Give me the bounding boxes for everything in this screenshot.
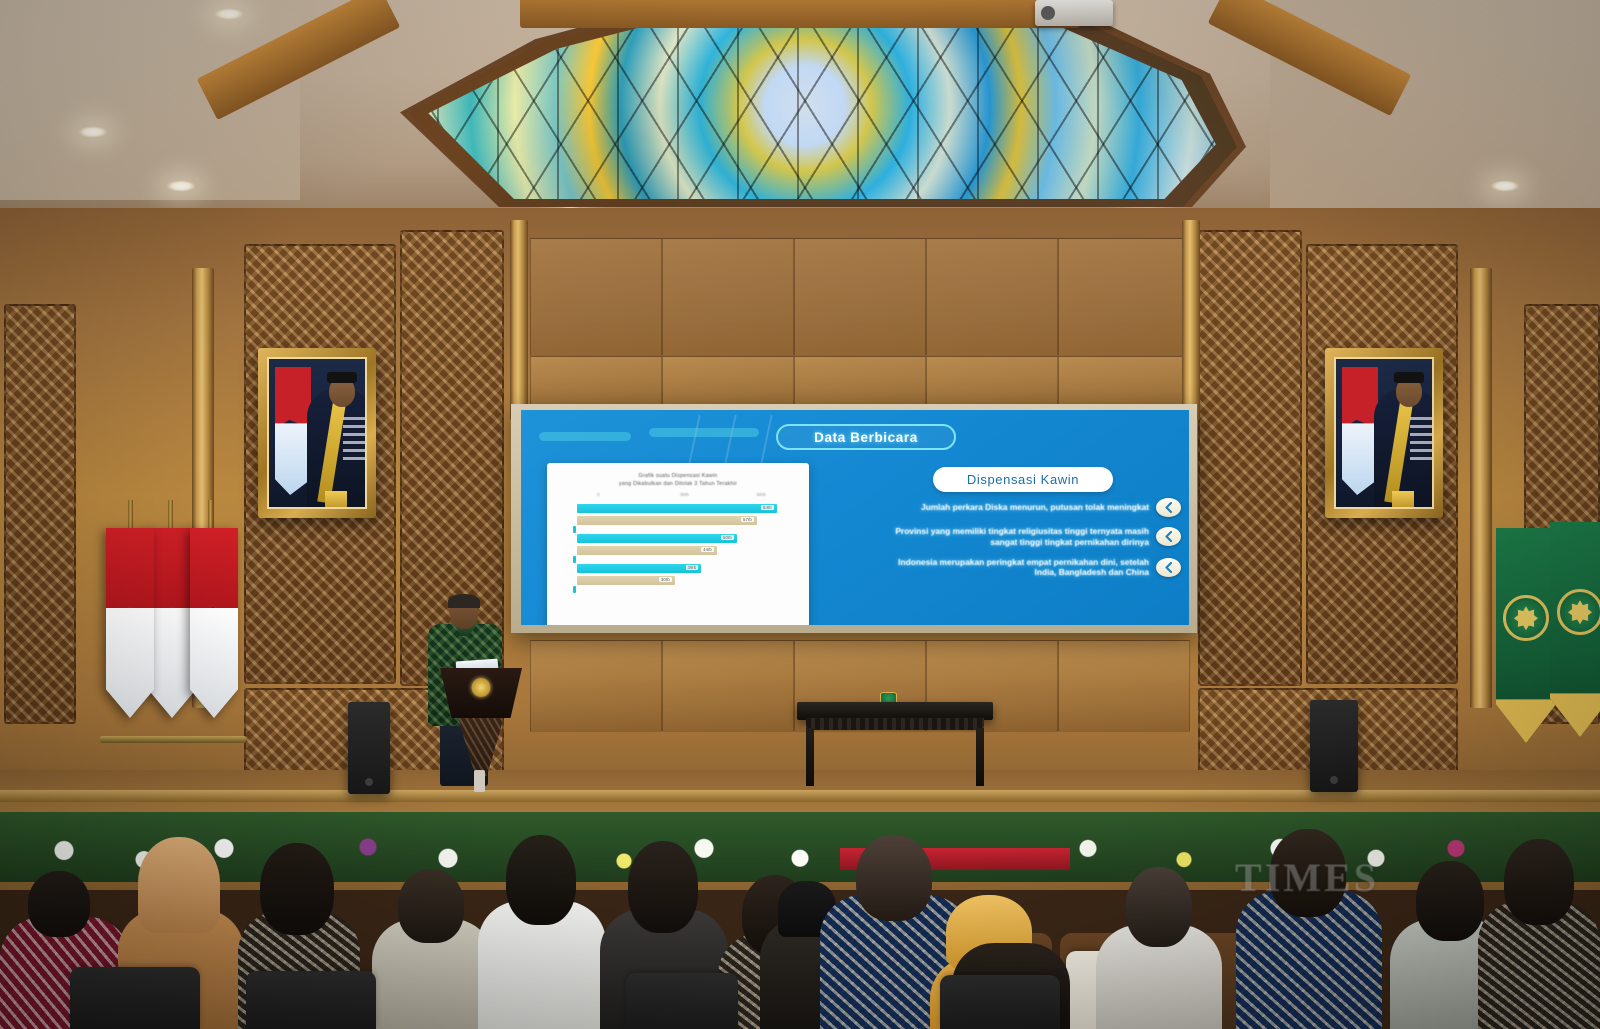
hijab-icon — [138, 837, 220, 933]
indonesia-flag — [190, 528, 238, 718]
portrait-canvas — [267, 357, 367, 509]
bar-group-2023: 39rb 30rb — [557, 564, 799, 585]
chevron-left-icon[interactable] — [1156, 558, 1181, 577]
portrait-tassel — [325, 491, 347, 509]
pillar-right — [1182, 220, 1200, 420]
loudspeaker-left — [348, 702, 390, 794]
category-tick — [573, 526, 576, 533]
chart-title-line2: yang Dikabulkan dan Ditolak 3 Tahun Tera… — [557, 480, 799, 488]
bar-dikabulkan: 64rb — [577, 504, 777, 513]
wall-panel — [926, 238, 1058, 356]
flag-white-band — [1342, 423, 1378, 495]
audience-head — [398, 869, 464, 943]
key-point-text: Indonesia merupakan peringkat empat pern… — [893, 557, 1149, 579]
flag-red-band — [148, 528, 196, 615]
wall-panel — [794, 238, 926, 356]
portrait-medals — [343, 417, 367, 461]
audience-head — [1270, 829, 1346, 917]
carved-panel-far-left — [4, 304, 76, 724]
key-point-text: Jumlah perkara Diska menurun, putusan to… — [893, 502, 1149, 513]
wall-panel — [530, 640, 662, 732]
flag-white-band — [275, 423, 311, 495]
audience-member — [1236, 813, 1382, 1029]
key-point-row: Provinsi yang memiliki tingkat religiusi… — [893, 526, 1181, 548]
carved-panel-right-inner — [1198, 230, 1302, 686]
indonesia-flag — [148, 528, 196, 718]
flag-red-band — [1342, 367, 1378, 428]
audience-head — [1504, 839, 1574, 925]
chart-x-axis: 0 30rb 60rb — [591, 490, 793, 499]
slide-key-points: Jumlah perkara Diska menurun, putusan to… — [893, 498, 1181, 587]
category-tick — [573, 586, 576, 593]
audience-head — [628, 841, 698, 933]
audience-head — [1416, 861, 1484, 941]
court-seal-icon — [1503, 595, 1549, 641]
slide-title-badge: Data Berbicara — [776, 424, 956, 450]
console-table-apron — [806, 718, 984, 730]
audience-head — [506, 835, 576, 925]
deco-bar — [649, 428, 759, 437]
podium — [440, 668, 522, 718]
presenter-hair — [448, 594, 480, 608]
audience-head — [260, 843, 334, 935]
audience-head — [28, 871, 90, 937]
bar-value-label: 57rb — [741, 517, 754, 522]
ceiling-projector — [1035, 0, 1113, 26]
bar-group-2021: 64rb 57rb — [557, 504, 799, 525]
indonesia-flag — [106, 528, 154, 718]
bar-ditolak: 30rb — [577, 576, 675, 585]
wall-panel — [1058, 238, 1190, 356]
institution-flag — [1496, 528, 1556, 743]
flag-white-band — [190, 608, 238, 718]
pillar-left — [510, 220, 528, 420]
slide-chart-card: Grafik suatu Dispensasi Kawin yang Dikab… — [547, 463, 809, 625]
bar-ditolak: 57rb — [577, 516, 757, 525]
stage-edge-trim — [0, 790, 1600, 802]
flag-white-band — [148, 608, 196, 718]
court-seal-icon — [1557, 589, 1600, 635]
key-point-row: Indonesia merupakan peringkat empat pern… — [893, 557, 1181, 579]
x-tick-0: 0 — [597, 492, 600, 497]
slide-subtitle-badge: Dispensasi Kawin — [933, 467, 1113, 492]
chevron-left-icon[interactable] — [1156, 527, 1181, 546]
bar-ditolak: 44rb — [577, 546, 717, 555]
slide-title-text: Data Berbicara — [814, 430, 918, 445]
audience-chair — [626, 973, 738, 1029]
loudspeaker-right — [1310, 700, 1358, 792]
key-point-text: Provinsi yang memiliki tingkat religiusi… — [893, 526, 1149, 548]
flag-stand-base — [100, 736, 246, 743]
audience-member — [478, 819, 606, 1029]
projection-screen[interactable]: Data Berbicara Dispensasi Kawin Grafik s… — [511, 404, 1197, 633]
peci-cap-icon — [1394, 372, 1424, 383]
peci-cap-icon — [327, 372, 357, 383]
audience-member — [1478, 823, 1600, 1029]
chart-title-line1: Grafik suatu Dispensasi Kawin — [557, 472, 799, 480]
podium-garuda-emblem-icon — [472, 678, 491, 697]
audience-member — [372, 854, 494, 1029]
downlight-icon — [166, 180, 196, 192]
institution-flag — [1550, 522, 1600, 737]
vice-president-portrait — [1325, 348, 1443, 518]
audience-chair — [246, 971, 376, 1029]
deco-bar — [539, 432, 631, 441]
console-table-leg — [806, 728, 814, 786]
bar-value-label: 64rb — [761, 505, 774, 510]
chevron-left-icon[interactable] — [1156, 498, 1181, 517]
category-tick — [573, 556, 576, 563]
bar-value-label: 50rb — [721, 535, 734, 540]
console-table-leg — [976, 728, 984, 786]
flag-red-band — [190, 528, 238, 615]
pillar-mid-right — [1470, 268, 1492, 708]
bar-value-label: 30rb — [659, 577, 672, 582]
bar-dikabulkan: 39rb — [577, 564, 701, 573]
downlight-icon — [1490, 180, 1520, 192]
portrait-canvas — [1334, 357, 1434, 509]
bar-group-2022: 50rb 44rb — [557, 534, 799, 555]
wall-panel — [662, 640, 794, 732]
x-tick-2: 60rb — [757, 492, 766, 497]
audience-head — [856, 835, 932, 921]
audience-member — [1096, 853, 1222, 1029]
x-tick-1: 30rb — [680, 492, 689, 497]
flag-white-band — [106, 608, 154, 718]
downlight-icon — [78, 126, 108, 138]
bar-value-label: 44rb — [701, 547, 714, 552]
portrait-medals — [1410, 417, 1434, 461]
portrait-tassel — [1392, 491, 1414, 509]
podium-stem — [474, 770, 485, 792]
wall-panel — [530, 238, 662, 356]
flag-backdrop — [1342, 367, 1378, 495]
flag-backdrop — [275, 367, 311, 495]
audience-chair — [940, 975, 1060, 1029]
bar-dikabulkan: 50rb — [577, 534, 737, 543]
presentation-slide[interactable]: Data Berbicara Dispensasi Kawin Grafik s… — [521, 410, 1189, 625]
slide-subtitle-text: Dispensasi Kawin — [967, 472, 1079, 487]
audience-chair — [70, 967, 200, 1029]
flag-red-band — [106, 528, 154, 615]
downlight-icon — [214, 8, 244, 20]
wall-panel — [662, 238, 794, 356]
ceiling-beam-top — [520, 0, 1080, 28]
stained-glass-skylight — [355, 0, 1255, 207]
wall-panel — [1058, 640, 1190, 732]
key-point-row: Jumlah perkara Diska menurun, putusan to… — [893, 498, 1181, 517]
flag-red-band — [275, 367, 311, 428]
president-portrait — [258, 348, 376, 518]
audience-head — [1126, 867, 1192, 947]
bar-value-label: 39rb — [686, 565, 699, 570]
seminar-hall-photo: BHINNEKA TUNGGAL IKA — [0, 0, 1600, 1029]
